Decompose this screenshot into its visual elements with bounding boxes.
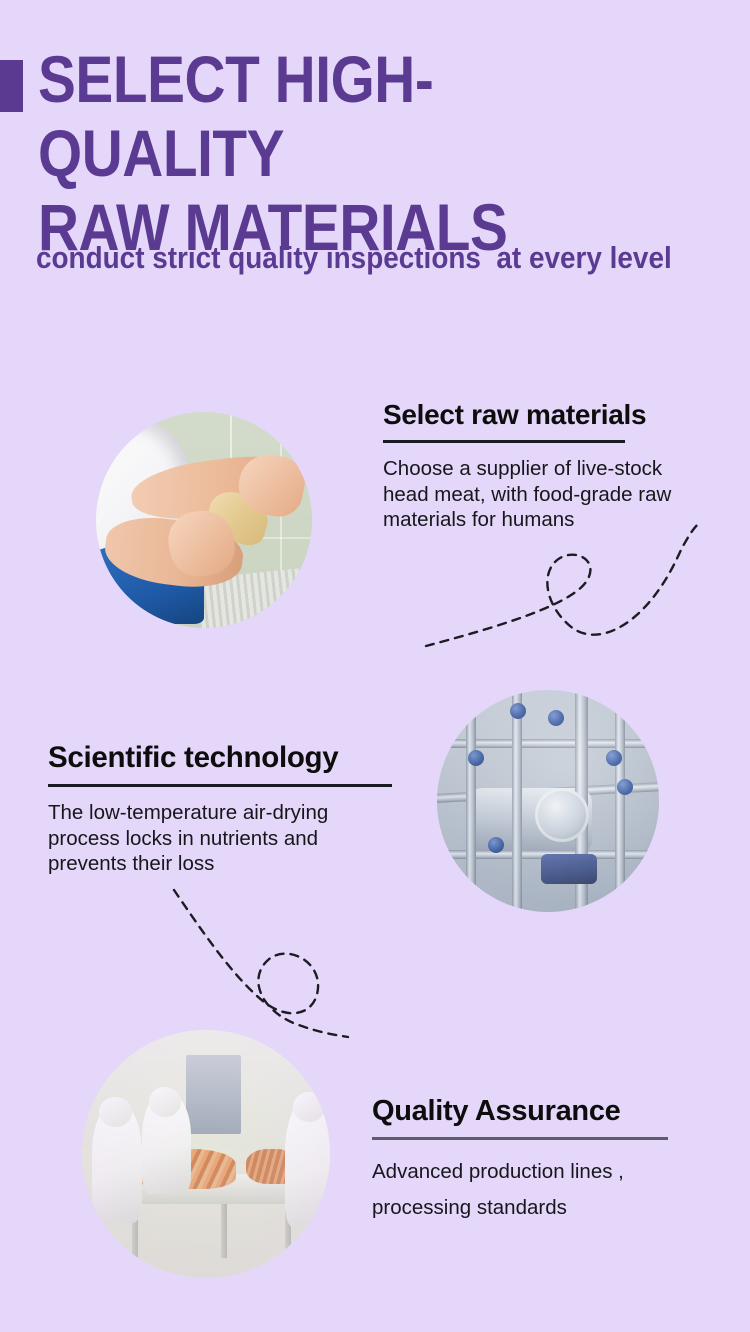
block-2-divider: [48, 784, 392, 787]
block-3-body: Advanced production lines , processing s…: [372, 1154, 672, 1226]
dashed-loop-arrow-icon: [418, 520, 708, 665]
block-3-heading: Quality Assurance: [372, 1094, 672, 1128]
title-accent-bar: [0, 60, 23, 112]
page-title-line-1: SELECT HIGH-QUALITY: [38, 42, 433, 190]
block-2-body: The low-temperature air-drying process l…: [48, 800, 394, 877]
dashed-loop-arrow-icon: [148, 880, 393, 1050]
photo-scientific-technology: [437, 690, 659, 912]
photo-quality-assurance: [82, 1030, 330, 1278]
block-2-heading: Scientific technology: [48, 740, 394, 775]
photo-select-raw-materials: [96, 412, 312, 628]
photo-overlay: [437, 690, 659, 912]
block-3-divider: [372, 1137, 668, 1140]
photo-overlay: [82, 1030, 330, 1278]
infographic-page: SELECT HIGH-QUALITYRAW MATERIALS conduct…: [0, 0, 750, 1332]
block-quality-assurance: Quality Assurance Advanced production li…: [372, 1094, 672, 1226]
page-title: SELECT HIGH-QUALITYRAW MATERIALS: [38, 42, 631, 264]
block-1-heading: Select raw materials: [383, 398, 683, 431]
block-1-body: Choose a supplier of live-stock head mea…: [383, 456, 683, 533]
block-select-raw-materials: Select raw materials Choose a supplier o…: [383, 398, 683, 533]
page-subtitle: conduct strict quality inspections at ev…: [36, 240, 666, 276]
block-scientific-technology: Scientific technology The low-temperatur…: [48, 740, 394, 877]
block-1-divider: [383, 440, 625, 443]
